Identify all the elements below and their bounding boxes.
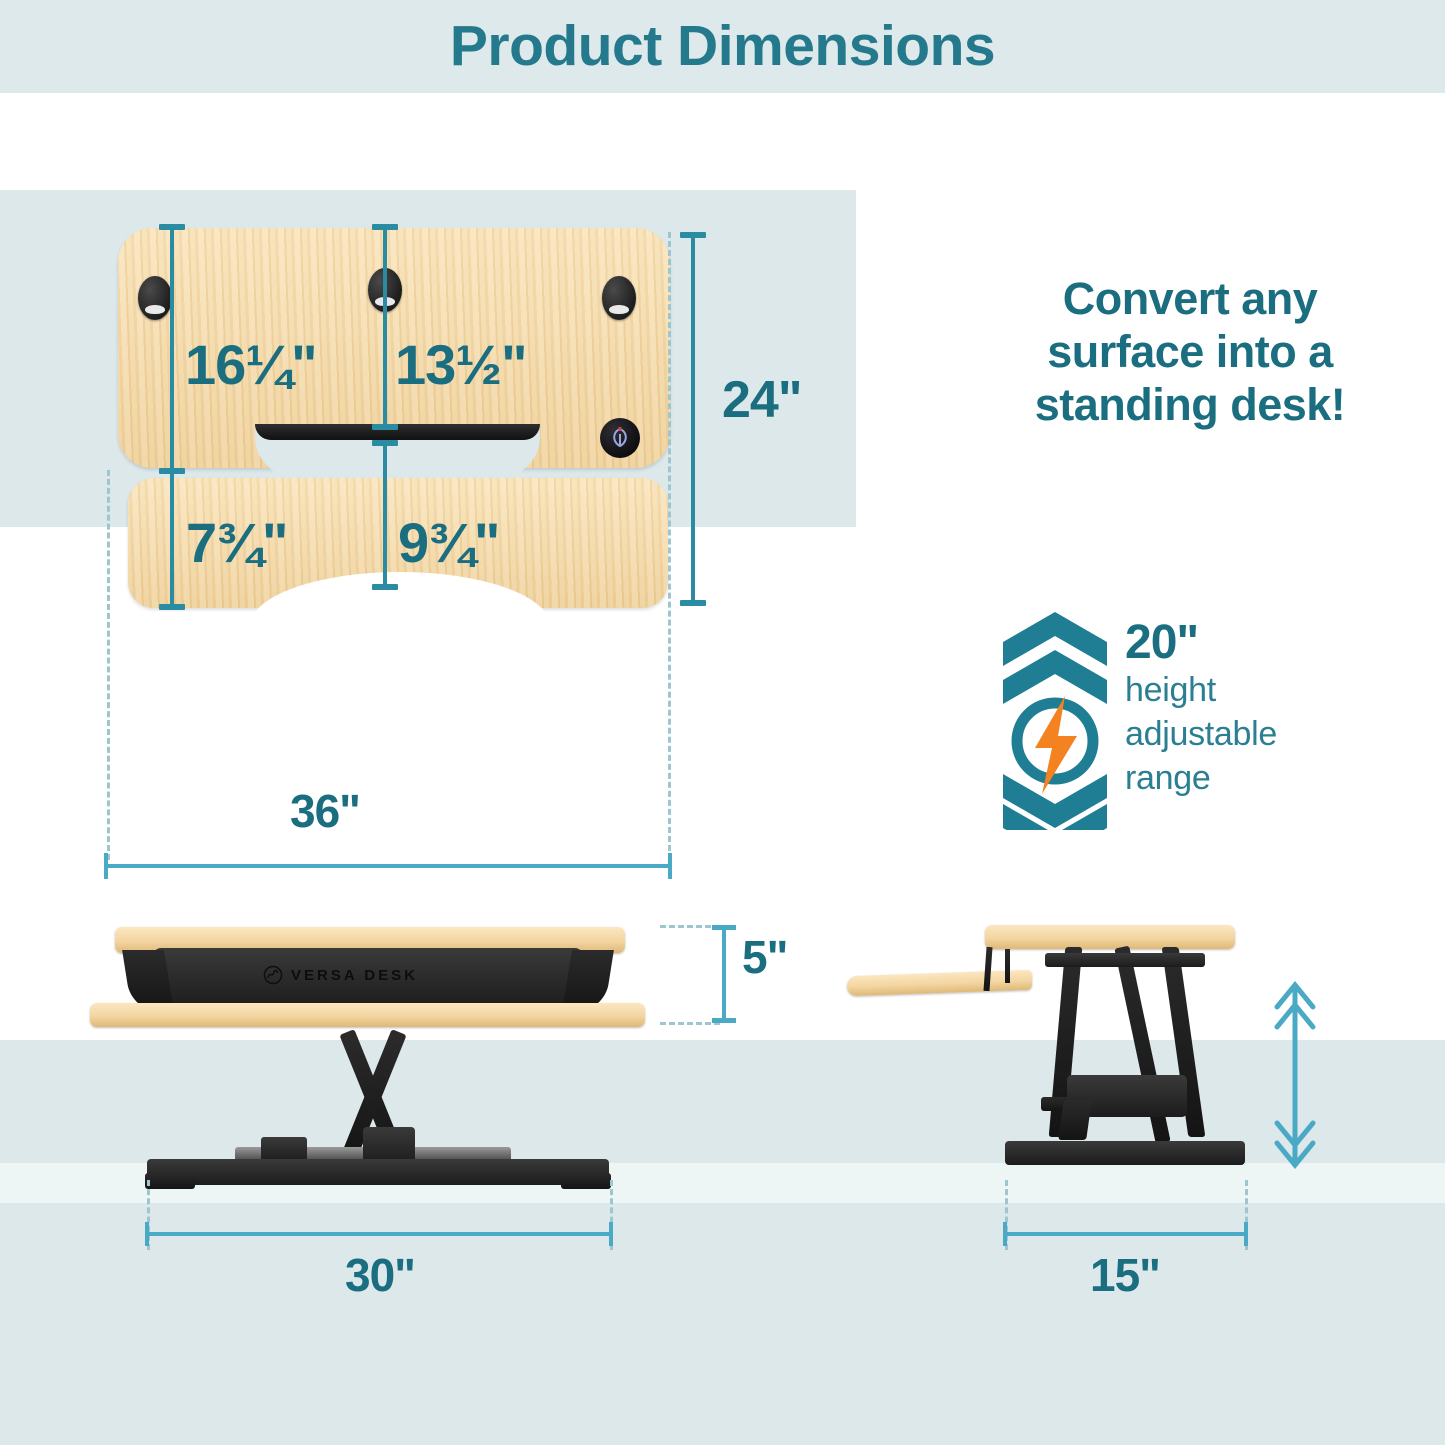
height-adjustable-badge: 20" height adjustable range [985,608,1405,838]
label-desktop-depth-right: 13½" [395,332,527,397]
front-base-plate [147,1159,609,1185]
dim-7-line [170,474,174,608]
brand-text: VERSA DESK [291,967,418,984]
tray-bracket-arm [1005,949,1010,983]
side-top-crossbar [1045,953,1205,967]
versa-logo-icon [608,425,632,451]
infographic-canvas: Product Dimensions [0,0,1445,1445]
dim-36-cap-right [668,853,672,879]
tagline: Convert any surface into a standing desk… [990,272,1390,431]
front-view-illustration: VERSA DESK [85,915,650,1185]
versa-desk-logo-badge [600,418,640,458]
front-base-foot-right [561,1173,611,1189]
dim-24-cap-bottom [680,600,706,606]
height-extension-top [660,925,720,930]
label-base-depth: 15" [950,1248,1300,1302]
dim-36-line [104,864,672,868]
grommet-hole-left [138,276,172,320]
height-extension-bottom [660,1022,720,1027]
label-tray-depth-right: 9¾" [398,510,499,575]
label-base-width: 30" [100,1248,660,1302]
dim-7-cap-bottom [159,604,185,610]
dim-9-cap-bottom [372,584,398,590]
dim-24-line [691,236,695,604]
height-badge-text: 20" height adjustable range [1125,618,1405,800]
side-paddle-control [1058,1100,1092,1140]
side-view-illustration [845,915,1265,1185]
dim-5-cap-bottom [712,1018,736,1023]
height-badge-value: 20" [1125,618,1405,668]
height-badge-line1: height [1125,668,1405,712]
height-range-arrow [1265,975,1325,1175]
versa-mark-icon [263,965,283,985]
dim-9-line [383,444,387,588]
dim-16-line [170,228,174,472]
label-overall-width: 36" [0,784,650,838]
chevron-bolt-icon [995,608,1115,830]
height-badge-line2: adjustable [1125,712,1405,756]
label-desktop-depth-left: 16¼" [185,332,317,397]
page-title: Product Dimensions [0,6,1445,86]
dim-13-cap-bottom [372,424,398,430]
label-overall-depth: 24" [722,370,802,430]
dim-15-line [1003,1232,1248,1236]
side-base-plate [1005,1141,1245,1165]
brand-lockup: VERSA DESK [263,965,418,985]
front-base-foot-left [145,1173,195,1189]
dim-30-line [145,1232,613,1236]
dim-15-cap-right [1244,1222,1248,1246]
height-range-icon [995,608,1115,830]
dim-13-line [383,228,387,428]
dim-30-cap-right [609,1222,613,1246]
dim-5-line [722,927,726,1023]
front-tray-board [90,1003,645,1027]
grommet-hole-right [602,276,636,320]
height-badge-line3: range [1125,756,1405,800]
label-closed-height: 5" [742,930,787,984]
side-desktop-board [985,925,1235,949]
label-tray-depth-left: 7¾" [186,510,287,575]
extension-line-right [668,232,671,860]
